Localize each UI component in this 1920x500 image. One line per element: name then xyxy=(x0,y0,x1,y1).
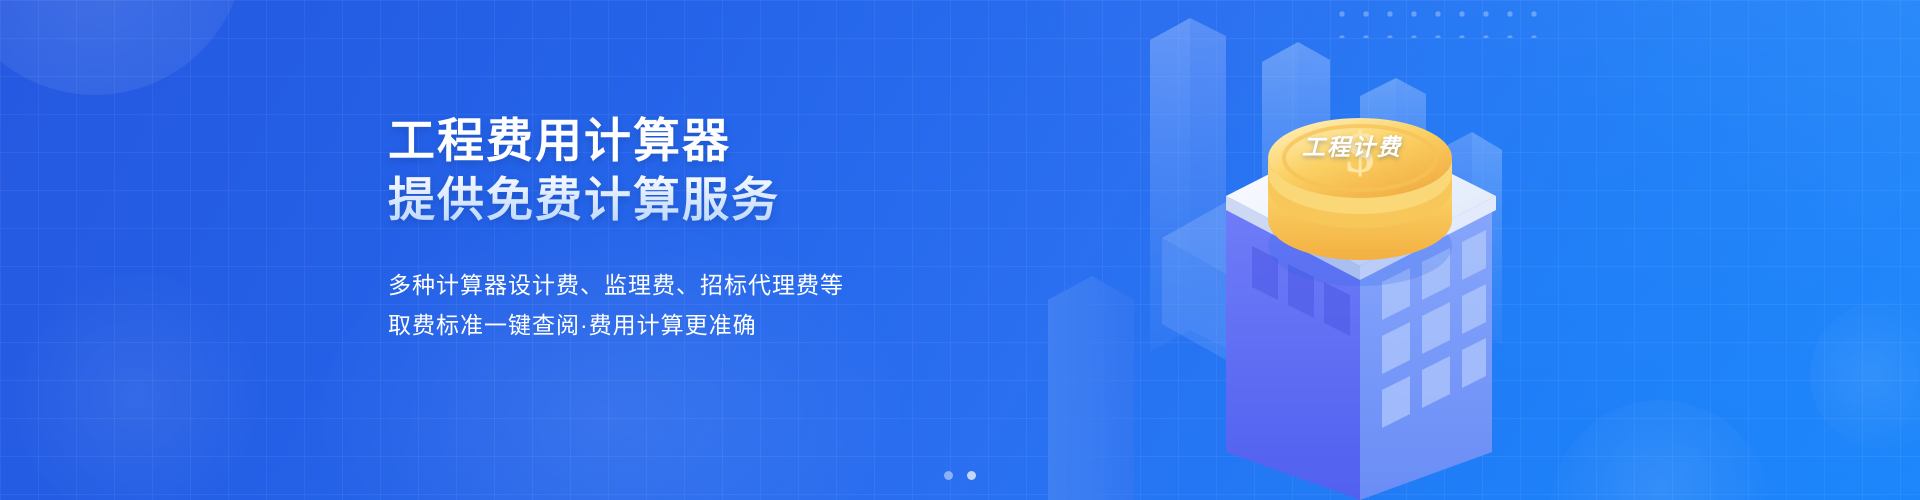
decorative-circle-top-left xyxy=(0,0,245,95)
small-tower-left xyxy=(1048,276,1134,500)
banner-headline: 工程费用计算器 提供免费计算服务 xyxy=(388,112,1008,230)
banner-content: 工程费用计算器 提供免费计算服务 多种计算器设计费、监理费、招标代理费等 取费标… xyxy=(388,112,1008,345)
decorative-circle-left xyxy=(10,270,260,500)
headline-line-1: 工程费用计算器 xyxy=(388,112,1008,171)
banner-illustration: $ 工程计费 xyxy=(1030,0,1590,500)
promo-banner: $ 工程计费 工程费用计算器 提供免费计算服务 多种计算器设计费、监理费、招标代… xyxy=(0,0,1920,500)
illustration-label: 工程计费 xyxy=(1302,128,1402,162)
banner-subtitle: 多种计算器设计费、监理费、招标代理费等 取费标准一键查阅·费用计算更准确 xyxy=(388,265,1008,346)
carousel-dot-1[interactable] xyxy=(944,471,953,480)
carousel-dots[interactable] xyxy=(944,471,976,480)
decorative-circle-far-right xyxy=(1810,300,1920,450)
subtitle-line-2: 取费标准一键查阅·费用计算更准确 xyxy=(388,305,1008,345)
isometric-city-illustration: $ xyxy=(1030,0,1590,500)
headline-line-2: 提供免费计算服务 xyxy=(388,171,1008,230)
subtitle-line-1: 多种计算器设计费、监理费、招标代理费等 xyxy=(388,265,1008,305)
carousel-dot-2[interactable] xyxy=(967,471,976,480)
